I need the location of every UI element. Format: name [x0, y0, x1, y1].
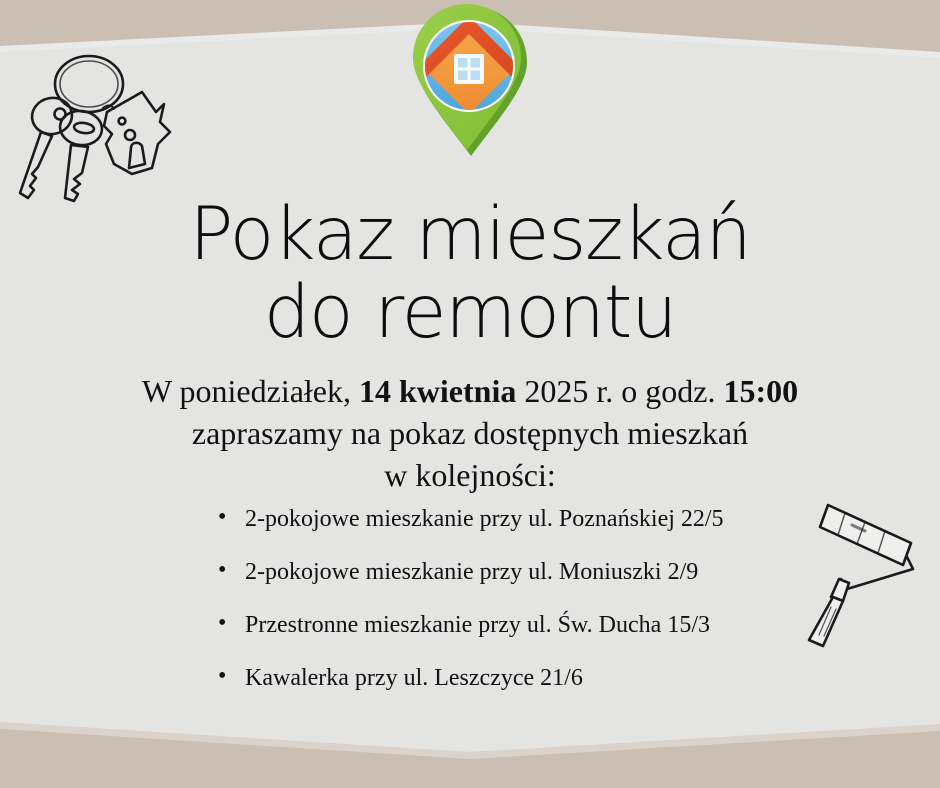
list-item: • 2-pokojowe mieszkanie przy ul. Poznańs… — [0, 505, 940, 558]
poster: Pokaz mieszkań do remontu W poniedziałek… — [0, 0, 940, 788]
page-title: Pokaz mieszkań do remontu — [0, 196, 940, 352]
bullet-glyph: • — [218, 662, 226, 690]
poster-content: Pokaz mieszkań do remontu W poniedziałek… — [0, 0, 940, 788]
list-item: • 2-pokojowe mieszkanie przy ul. Moniusz… — [0, 558, 940, 611]
list-item-label: 2-pokojowe mieszkanie przy ul. Poznański… — [245, 506, 724, 532]
event-time: 15:00 — [723, 373, 798, 409]
intro-line-3: w kolejności: — [0, 454, 940, 496]
title-line-2: do remontu — [0, 274, 940, 352]
list-item-label: 2-pokojowe mieszkanie przy ul. Moniuszki… — [245, 559, 698, 585]
intro-line-1: W poniedziałek, 14 kwietnia 2025 r. o go… — [0, 370, 940, 412]
list-item: • Kawalerka przy ul. Leszczyce 21/6 — [0, 664, 940, 717]
event-intro: W poniedziałek, 14 kwietnia 2025 r. o go… — [0, 370, 940, 496]
event-date: 14 kwietnia — [359, 373, 516, 409]
bullet-glyph: • — [218, 556, 226, 584]
list-item: • Przestronne mieszkanie przy ul. Św. Du… — [0, 611, 940, 664]
list-item-label: Kawalerka przy ul. Leszczyce 21/6 — [245, 665, 583, 691]
bullet-glyph: • — [218, 609, 226, 637]
title-line-1: Pokaz mieszkań — [0, 196, 940, 274]
intro-prefix: W poniedziałek, — [142, 373, 359, 409]
intro-line-2: zapraszamy na pokaz dostępnych mieszkań — [0, 412, 940, 454]
bullet-glyph: • — [218, 503, 226, 531]
list-item-label: Przestronne mieszkanie przy ul. Św. Duch… — [245, 612, 710, 638]
flats-list: • 2-pokojowe mieszkanie przy ul. Poznańs… — [0, 505, 940, 717]
intro-middle: 2025 r. o godz. — [516, 373, 723, 409]
